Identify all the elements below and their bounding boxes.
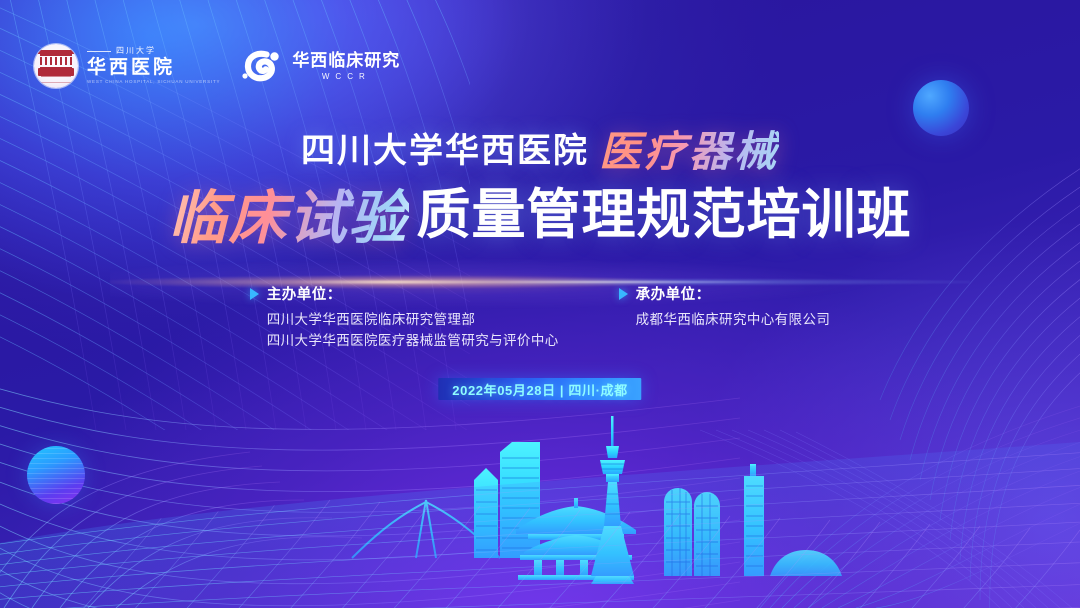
status-badge-date-location: 2022年05月28日 | 四川·成都 <box>438 378 641 400</box>
title-line2-white: 质量管理规范培训班 <box>417 170 912 249</box>
title-line-2: 临床试验 质量管理规范培训班 <box>0 166 1080 232</box>
title-line-1: 四川大学华西医院 医疗器械 <box>0 114 1080 160</box>
wccr-abbr: WCCR <box>292 73 400 81</box>
logo-hospital-english: WEST CHINA HOSPITAL, SICHUAN UNIVERSITY <box>87 80 220 85</box>
poster-canvas: 四川大学 华西医院 WEST CHINA HOSPITAL, SICHUAN U… <box>0 0 1080 608</box>
title-line2-brush: 临床试验 <box>168 171 408 255</box>
logo-wccr: 华西临床研究 WCCR <box>242 49 400 83</box>
logo-row: 四川大学 华西医院 WEST CHINA HOSPITAL, SICHUAN U… <box>34 44 400 88</box>
organizer-coordinator: 承办单位： 成都华西临床研究中心有限公司 <box>619 283 831 351</box>
organizer-coordinator-label: 承办单位： <box>636 283 711 304</box>
organizer-host-entry: 四川大学华西医院临床研究管理部 <box>250 309 559 330</box>
organizer-host: 主办单位： 四川大学华西医院临床研究管理部 四川大学华西医院医疗器械监管研究与评… <box>250 283 559 351</box>
logo-hospital-name: 华西医院 <box>87 58 175 77</box>
title-line1-brush: 医疗器械 <box>599 118 779 179</box>
logo-west-china-hospital: 四川大学 华西医院 WEST CHINA HOSPITAL, SICHUAN U… <box>34 44 220 88</box>
logo-university-text: 四川大学 <box>116 47 156 55</box>
logo-rule <box>87 51 111 52</box>
page-title: 四川大学华西医院 医疗器械 临床试验 质量管理规范培训班 <box>0 114 1080 232</box>
hospital-gate-crest-icon <box>34 44 78 88</box>
wccr-swirl-icon <box>242 49 284 83</box>
organizer-host-entry: 四川大学华西医院医疗器械监管研究与评价中心 <box>250 330 559 351</box>
organizer-block: 主办单位： 四川大学华西医院临床研究管理部 四川大学华西医院医疗器械监管研究与评… <box>0 283 1080 351</box>
organizer-host-label: 主办单位： <box>267 283 342 304</box>
title-line1-white: 四川大学华西医院 <box>301 123 589 172</box>
date-location-text: 2022年05月28日 | 四川·成都 <box>452 380 627 399</box>
wccr-name: 华西临床研究 <box>292 52 400 69</box>
logo-university-line: 四川大学 <box>87 47 156 55</box>
chengdu-skyline-silhouette <box>0 398 1080 608</box>
gradient-sphere-icon-bottom-left <box>27 446 85 504</box>
triangle-bullet-icon <box>619 288 628 300</box>
organizer-coordinator-entry: 成都华西临床研究中心有限公司 <box>619 309 831 330</box>
triangle-bullet-icon <box>250 288 259 300</box>
